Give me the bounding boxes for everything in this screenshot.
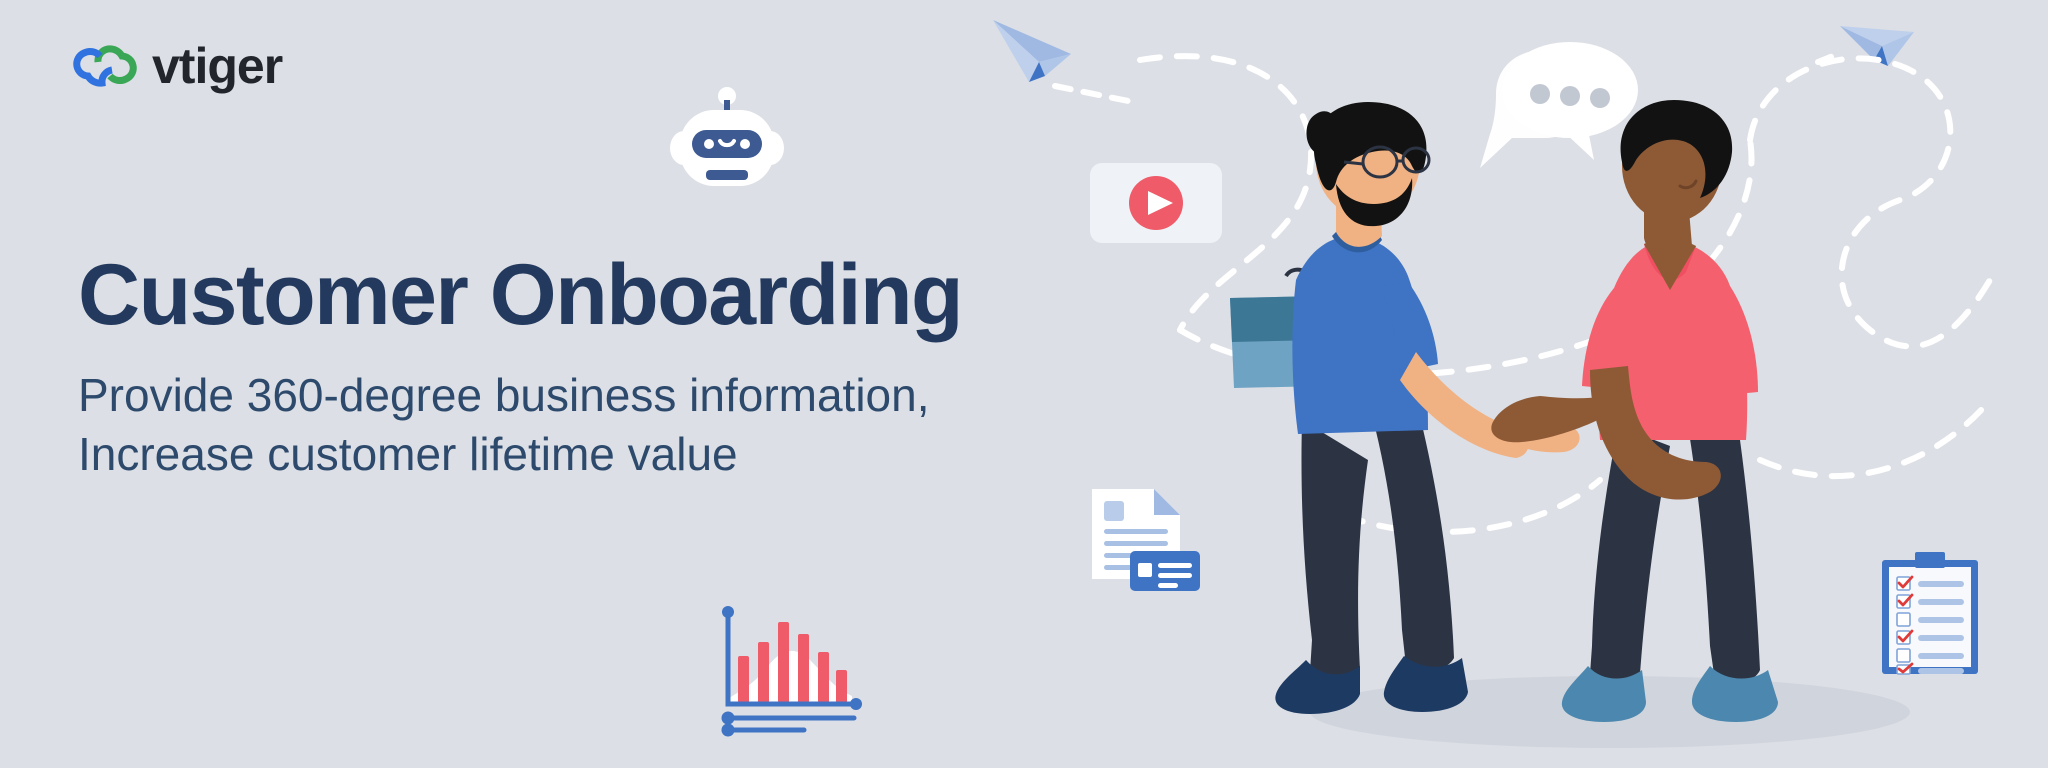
hero-subtitle-line-2: Increase customer lifetime value	[78, 425, 1138, 484]
hero-banner: vtiger Customer Onboarding Provide 360-d…	[0, 0, 2048, 768]
hero-subtitle: Provide 360-degree business information,…	[78, 366, 1138, 484]
handshake-illustration	[1240, 100, 1940, 760]
brand-wordmark: vtiger	[152, 41, 282, 91]
brand-logo[interactable]: vtiger	[68, 38, 282, 94]
hero-text-block: Customer Onboarding Provide 360-degree b…	[78, 250, 1138, 484]
vtiger-cloud-logo-icon	[68, 38, 142, 94]
chat-bot-icon	[662, 82, 792, 212]
hero-subtitle-line-1: Provide 360-degree business information,	[78, 366, 1138, 425]
person-right	[1491, 100, 1778, 722]
document-card-icon	[1088, 485, 1203, 595]
video-play-card-icon[interactable]	[1090, 163, 1222, 243]
bar-chart-icon	[712, 604, 872, 734]
page-title: Customer Onboarding	[78, 250, 1138, 340]
